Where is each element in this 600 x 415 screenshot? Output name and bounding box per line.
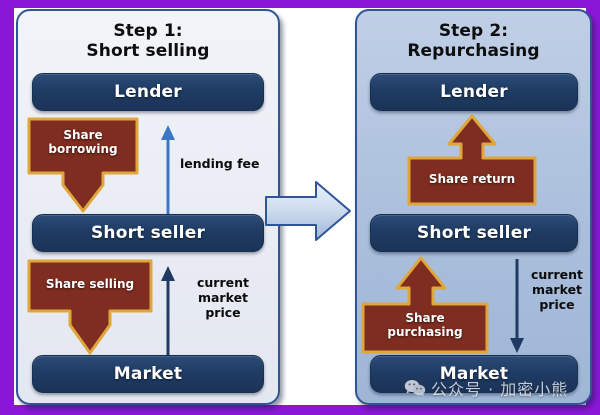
panel-step-2-title-line2: Repurchasing	[357, 41, 590, 61]
panel-step-2-title: Step 2: Repurchasing	[357, 21, 590, 61]
role-label-lender-step-2: Lender	[440, 82, 508, 102]
role-label-lender-step-1: Lender	[114, 82, 182, 102]
flow-arrow-share-borrowing[interactable]: Share borrowing	[27, 117, 139, 213]
value-arrow-current-market-price-step-2[interactable]	[507, 259, 527, 355]
flow-arrow-share-purchasing[interactable]: Share purchasing	[361, 256, 489, 354]
role-label-market-step-1: Market	[114, 364, 182, 384]
role-box-lender-step-2[interactable]: Lender	[370, 73, 578, 111]
role-label-short-seller-step-2: Short seller	[417, 223, 531, 243]
value-arrow-current-market-price-step-1-caption: current market price	[180, 275, 266, 320]
frame-border-top	[0, 0, 600, 8]
cmp1-line1: current	[180, 275, 266, 290]
cmp2-line3: price	[525, 297, 589, 312]
value-arrow-lending-fee-caption: lending fee	[180, 156, 276, 171]
frame-border-bottom	[0, 405, 600, 415]
panel-step-1: Step 1: Short selling Lender Share borro…	[16, 9, 280, 405]
role-box-market-step-2[interactable]: Market	[370, 355, 578, 393]
role-label-short-seller-step-1: Short seller	[91, 223, 205, 243]
panel-step-2: Step 2: Repurchasing Lender Share return…	[355, 9, 592, 405]
cmp1-line3: price	[180, 305, 266, 320]
panel-step-1-title: Step 1: Short selling	[18, 21, 278, 61]
value-arrow-current-market-price-step-2-caption: current market price	[525, 267, 589, 312]
flow-arrow-share-return[interactable]: Share return	[407, 114, 537, 206]
panel-step-2-title-line1: Step 2:	[357, 21, 590, 41]
role-box-market-step-1[interactable]: Market	[32, 355, 264, 393]
cmp1-line2: market	[180, 290, 266, 305]
step-connector-arrow	[264, 180, 352, 246]
role-box-short-seller-step-2[interactable]: Short seller	[370, 214, 578, 252]
cmp2-line2: market	[525, 282, 589, 297]
panel-step-1-title-line2: Short selling	[18, 41, 278, 61]
panel-step-1-title-line1: Step 1:	[18, 21, 278, 41]
role-label-market-step-2: Market	[440, 364, 508, 384]
role-box-lender-step-1[interactable]: Lender	[32, 73, 264, 111]
diagram-canvas: Step 1: Short selling Lender Share borro…	[0, 0, 600, 415]
value-arrow-lending-fee[interactable]	[158, 123, 178, 215]
value-arrow-current-market-price-step-1[interactable]	[158, 264, 178, 356]
role-box-short-seller-step-1[interactable]: Short seller	[32, 214, 264, 252]
flow-arrow-share-selling[interactable]: Share selling	[27, 259, 153, 355]
cmp2-line1: current	[525, 267, 589, 282]
frame-border-left	[0, 0, 14, 415]
